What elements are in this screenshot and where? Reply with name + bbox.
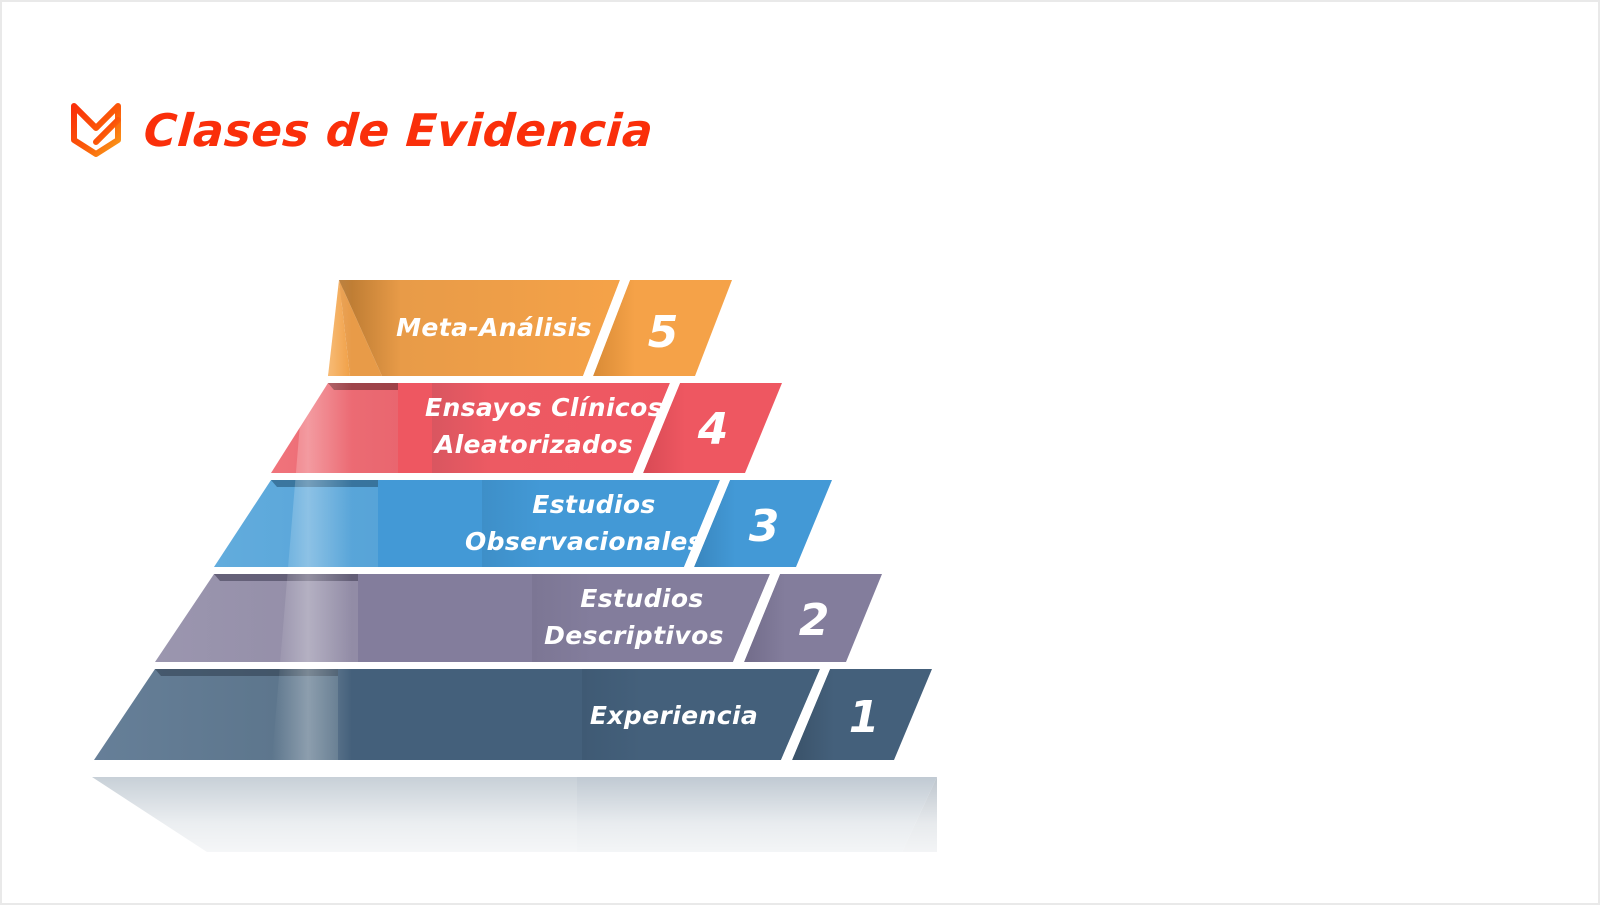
slide-header: Clases de Evidencia: [70, 102, 653, 158]
level-2-label-line2: Descriptivos: [544, 621, 724, 650]
page-title: Clases de Evidencia: [142, 108, 654, 153]
shield-bookmark-logo-icon: [70, 102, 122, 158]
slide-canvas: Clases de Evidencia: [0, 0, 1600, 905]
pyramid-level-2[interactable]: Estudios Descriptivos 2: [155, 574, 882, 662]
level-5-number: 5: [648, 307, 679, 358]
level-4-label-line2: Aleatorizados: [433, 430, 633, 459]
level-3-label-line1: Estudios: [532, 490, 655, 519]
level-3-label-line2: Observacionales: [465, 527, 703, 556]
pyramid-level-5[interactable]: Meta-Análisis 5: [328, 280, 732, 376]
level-4-number: 4: [697, 404, 729, 455]
evidence-pyramid-chart: Experiencia 1 Estudios Descriptivos 2: [62, 252, 1002, 872]
level-2-label-line1: Estudios: [580, 584, 703, 613]
level-5-label: Meta-Análisis: [396, 313, 592, 342]
level-2-core-face: [358, 574, 532, 662]
pyramid-reflection: [62, 752, 1002, 872]
level-2-number: 2: [799, 595, 830, 646]
level-4-label-line1: Ensayos Clínicos: [425, 393, 663, 422]
pyramid-level-1[interactable]: Experiencia 1: [94, 669, 932, 760]
level-1-label: Experiencia: [590, 701, 758, 730]
level-1-core-face: [338, 669, 582, 760]
level-1-number: 1: [849, 692, 880, 743]
level-3-number: 3: [749, 501, 780, 552]
